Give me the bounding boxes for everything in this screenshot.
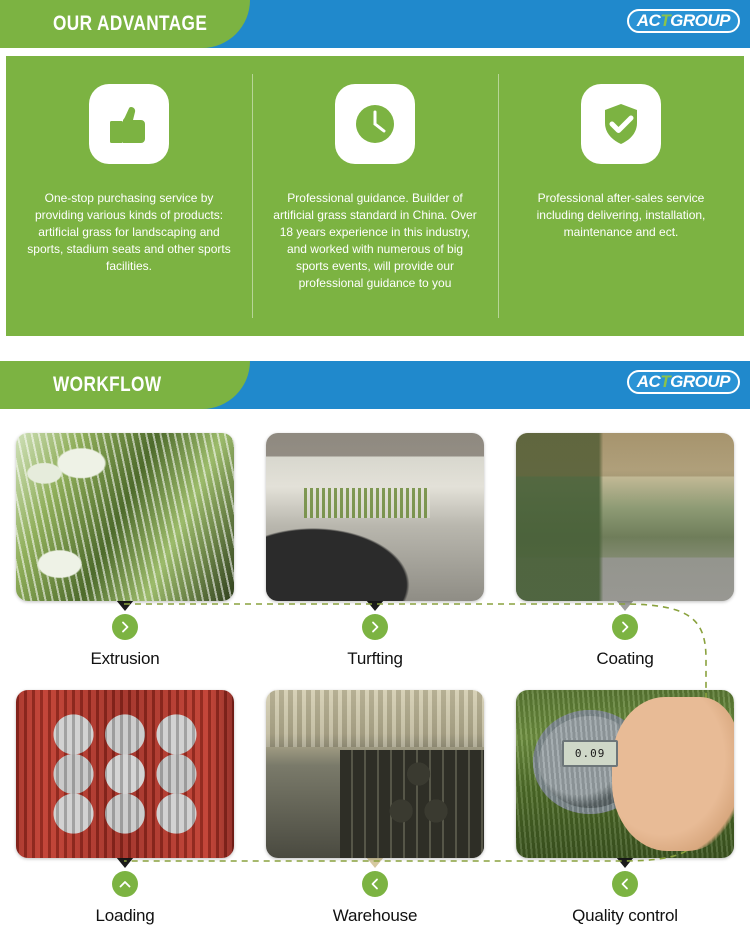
advantage-card-1-text: One-stop purchasing service by providing… [23,190,235,275]
thickness-gauge-photo: 0.09 [516,690,734,858]
workflow-section: Extrusion Turfting C [0,409,750,943]
step-pointer-triangle-icon [116,857,134,868]
advantage-card-2: Professional guidance. Builder of artifi… [252,56,498,336]
chevron-up-icon[interactable] [112,871,138,897]
logo-leaf-t-icon: T [660,12,670,29]
step-pointer-triangle-icon [366,600,384,611]
workflow-step-quality-control[interactable]: 0.09 Quality control [500,690,750,926]
workflow-banner: WORKFLOW AC T GROUP [0,361,750,409]
advantage-card-2-text: Professional guidance. Builder of artifi… [269,190,481,292]
coating-line-photo [516,433,734,601]
logo-group-text: GROUP [670,373,730,390]
clock-icon [335,84,415,164]
workflow-step-coating[interactable]: Coating [500,433,750,669]
step-pointer-triangle-icon [116,600,134,611]
workflow-step-extrusion[interactable]: Extrusion [0,433,250,669]
step-pointer-triangle-icon [616,857,634,868]
advantage-card-3-text: Professional after-sales service includi… [515,190,727,241]
extrusion-machine-photo [16,433,234,601]
advantage-card-3: Professional after-sales service includi… [498,56,744,336]
advantage-banner-tab: OUR ADVANTAGE [0,0,250,48]
brand-logo-workflow: AC T GROUP [627,370,740,394]
container-loading-photo [16,690,234,858]
thumbs-up-icon [89,84,169,164]
workflow-step-warehouse[interactable]: Warehouse [250,690,500,926]
gauge-display-value: 0.09 [562,740,619,767]
page-root: OUR ADVANTAGE AC T GROUP One-stop purcha… [0,0,750,943]
advantage-banner-title: OUR ADVANTAGE [53,12,207,36]
workflow-step-loading[interactable]: Loading [0,690,250,926]
workflow-banner-tab: WORKFLOW [0,361,250,409]
shield-check-icon [581,84,661,164]
logo-act-text: AC [637,12,661,29]
hand-illustration [612,697,734,852]
chevron-right-icon[interactable] [612,614,638,640]
workflow-label-loading: Loading [95,906,154,926]
workflow-label-extrusion: Extrusion [90,649,159,669]
chevron-right-icon[interactable] [362,614,388,640]
workflow-label-warehouse: Warehouse [333,906,418,926]
workflow-label-coating: Coating [596,649,653,669]
chevron-left-icon[interactable] [362,871,388,897]
tufting-machine-photo [266,433,484,601]
advantage-panel: One-stop purchasing service by providing… [6,56,744,336]
advantage-banner: OUR ADVANTAGE AC T GROUP [0,0,750,48]
workflow-row-top: Extrusion Turfting C [0,433,750,669]
workflow-label-turfting: Turfting [347,649,402,669]
chevron-right-icon[interactable] [112,614,138,640]
brand-logo: AC T GROUP [627,9,740,33]
logo-act-text: AC [637,373,661,390]
step-pointer-triangle-icon [366,857,384,868]
workflow-label-quality-control: Quality control [572,906,678,926]
workflow-row-bottom: Loading Warehouse 0.09 [0,690,750,926]
workflow-step-turfting[interactable]: Turfting [250,433,500,669]
warehouse-rolls-photo [266,690,484,858]
step-pointer-triangle-icon [616,600,634,611]
advantage-card-1: One-stop purchasing service by providing… [6,56,252,336]
logo-leaf-t-icon: T [660,373,670,390]
workflow-banner-title: WORKFLOW [53,373,161,397]
chevron-left-icon[interactable] [612,871,638,897]
logo-group-text: GROUP [670,12,730,29]
